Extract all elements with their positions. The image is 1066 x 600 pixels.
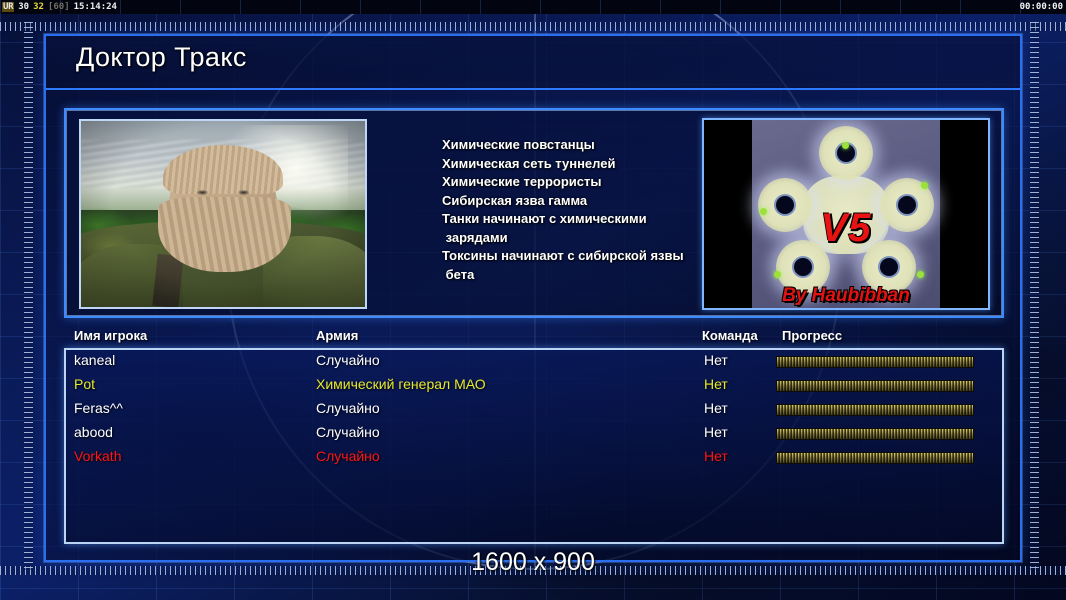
table-row[interactable]: Pot Химический генерал МАО Нет (66, 374, 1002, 398)
window-title-bar: Доктор Тракс (46, 36, 1020, 90)
resolution-label: 1600 x 900 (0, 548, 1066, 577)
player-name[interactable]: kaneal (74, 352, 115, 368)
player-team[interactable]: Нет (704, 448, 728, 464)
player-team[interactable]: Нет (704, 352, 728, 368)
player-army[interactable]: Случайно (316, 400, 380, 416)
map-preview-image: V5 By Haubibban (752, 120, 939, 308)
player-progress-bar (776, 428, 974, 440)
map-author-label: By Haubibban (752, 285, 939, 307)
player-team[interactable]: Нет (704, 400, 728, 416)
map-start-marker (917, 271, 924, 278)
general-portrait (79, 119, 367, 309)
player-name[interactable]: Vorkath (74, 448, 121, 464)
ruler-top (0, 22, 1066, 31)
status-timer: 00:00:00 (1020, 0, 1063, 14)
player-name[interactable]: Feras^^ (74, 400, 123, 416)
player-progress-fill (777, 357, 973, 367)
player-progress-fill (777, 405, 973, 415)
player-table-headers: Имя игрока Армия Команда Прогресс (64, 328, 1004, 348)
map-spawn-crater (880, 258, 898, 276)
player-team[interactable]: Нет (704, 376, 728, 392)
player-progress-bar (776, 356, 974, 368)
status-clock: 15:14:24 (74, 2, 117, 12)
player-army[interactable]: Химический генерал МАО (316, 376, 486, 392)
header-progress: Прогресс (782, 328, 842, 343)
general-info-panel: Химические повстанцы Химическая сеть тун… (64, 108, 1004, 318)
player-name[interactable]: abood (74, 424, 113, 440)
player-army[interactable]: Случайно (316, 448, 380, 464)
status-value-3: [60] (48, 2, 70, 12)
player-progress-bar (776, 404, 974, 416)
player-name[interactable]: Pot (74, 376, 95, 392)
table-row[interactable]: abood Случайно Нет (66, 422, 1002, 446)
player-army[interactable]: Случайно (316, 352, 380, 368)
map-preview[interactable]: V5 By Haubibban (702, 118, 990, 310)
lobby-window: Доктор Тракс Химические повстанцы (44, 34, 1022, 562)
portrait-vignette (81, 121, 365, 307)
player-progress-fill (777, 429, 973, 439)
status-tag: UR (2, 2, 14, 12)
player-progress-fill (777, 453, 973, 463)
status-value-1: 30 (18, 2, 29, 12)
table-row[interactable]: Feras^^ Случайно Нет (66, 398, 1002, 422)
player-army[interactable]: Случайно (316, 424, 380, 440)
ruler-right (1030, 22, 1039, 570)
status-bar-left: UR 30 32 [60] 15:14:24 (2, 0, 117, 14)
map-version-label: V5 (752, 206, 939, 251)
player-table: kaneal Случайно Нет Pot Химический генер… (64, 348, 1004, 544)
table-row[interactable]: kaneal Случайно Нет (66, 350, 1002, 374)
player-progress-bar (776, 380, 974, 392)
page-title: Доктор Тракс (76, 42, 247, 73)
player-team[interactable]: Нет (704, 424, 728, 440)
status-value-2: 32 (33, 2, 44, 12)
ruler-left (24, 22, 33, 570)
map-spawn-crater (794, 258, 812, 276)
map-start-marker (921, 182, 928, 189)
status-bar: UR 30 32 [60] 15:14:24 00:00:00 (0, 0, 1066, 14)
header-army: Армия (316, 328, 358, 343)
header-team: Команда (702, 328, 758, 343)
table-row[interactable]: Vorkath Случайно Нет (66, 446, 1002, 470)
status-bar-gridlines (0, 0, 1066, 14)
player-progress-bar (776, 452, 974, 464)
header-player-name: Имя игрока (74, 328, 147, 343)
map-spawn-lobe-top (819, 126, 873, 180)
game-lobby-screen: UR 30 32 [60] 15:14:24 00:00:00 Доктор Т… (0, 0, 1066, 600)
player-progress-fill (777, 381, 973, 391)
